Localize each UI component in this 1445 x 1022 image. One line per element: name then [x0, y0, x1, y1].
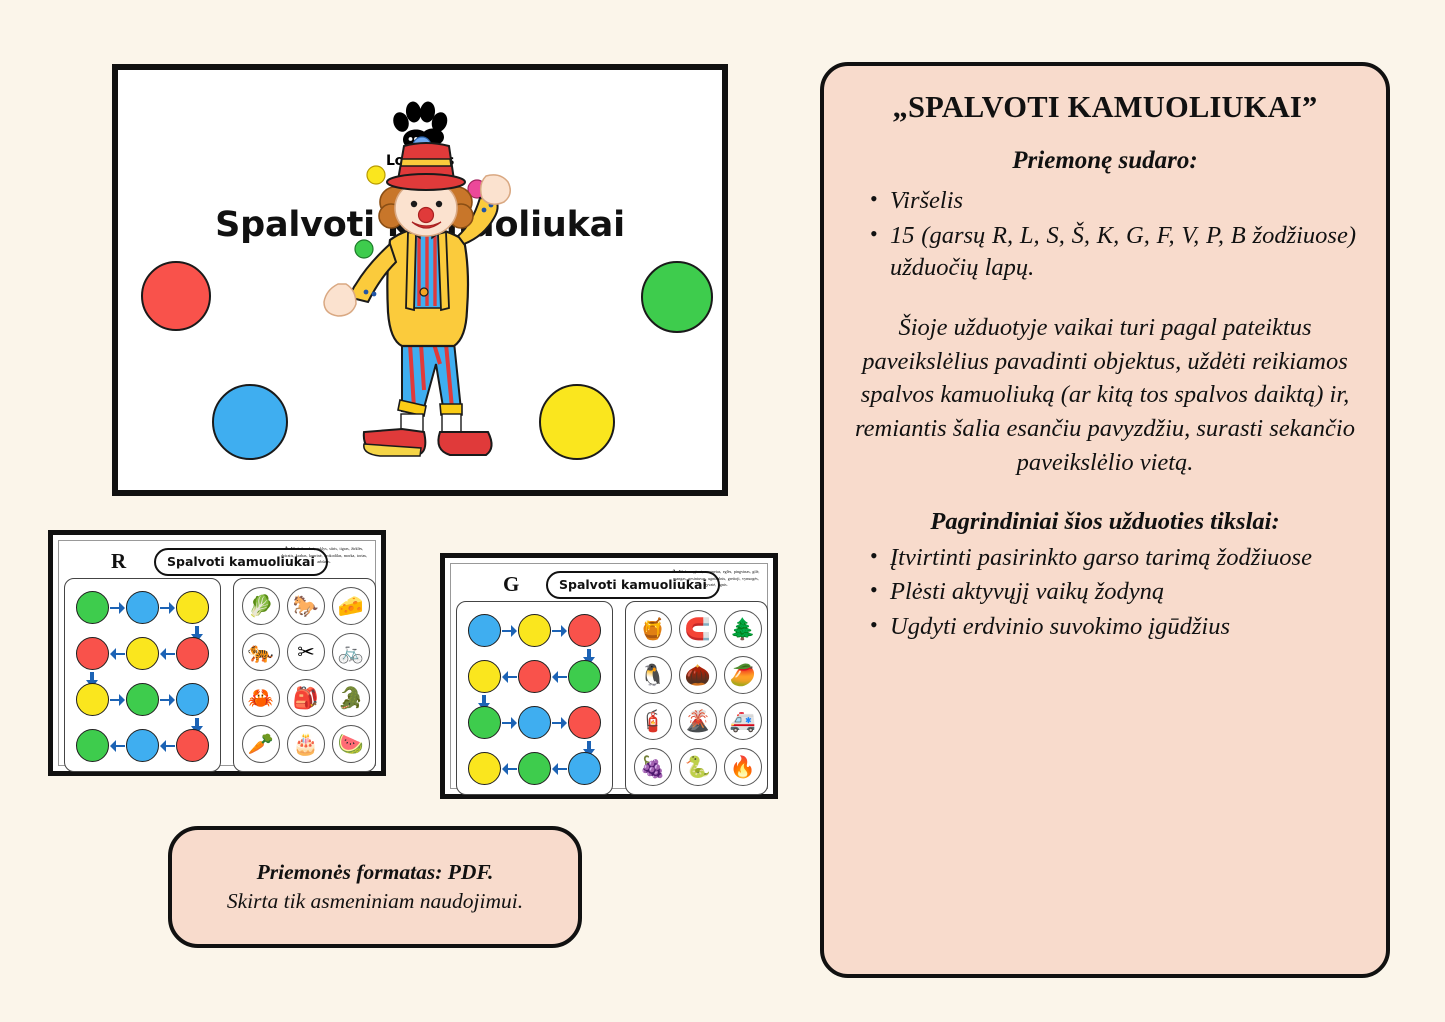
arrow-right-icon [109, 690, 126, 710]
worksheet-thumbnail-r[interactable]: R Spalvoti kamuoliukai Žodžiai: burokai,… [48, 530, 386, 776]
picture-fire: 🔥 [724, 748, 762, 786]
picture-acorn: 🌰 [679, 656, 717, 694]
wordlist-label: Žodžiai: [285, 546, 300, 551]
ball-row [457, 660, 612, 693]
ball [468, 614, 501, 647]
ball-row [457, 752, 612, 785]
arrow-left-icon [551, 667, 568, 687]
picture-crocodile: 🐊 [332, 679, 370, 717]
ball [126, 683, 159, 716]
arrow-right-icon [551, 713, 568, 733]
arrow-left-icon [109, 644, 126, 664]
ball-row [457, 614, 612, 647]
ball [518, 614, 551, 647]
cover-ball-blue [212, 384, 288, 460]
picture-snake: 🐍 [679, 748, 717, 786]
arrow-left-icon [159, 644, 176, 664]
picture-backpack: 🎒 [287, 679, 325, 717]
ball [126, 729, 159, 762]
list-item: Ugdyti erdvinio suvokimo įgūdžius [868, 611, 1360, 644]
picture-ambulance: 🚑 [724, 702, 762, 740]
picture-scissors: ✂ [287, 633, 325, 671]
ball [176, 637, 209, 670]
picture-fire-extinguisher: 🧯 [634, 702, 672, 740]
ball [468, 660, 501, 693]
info-panel-title: „SPALVOTI KAMUOLIUKAI” [850, 90, 1360, 125]
arrow-left-icon [109, 736, 126, 756]
worksheet-letter: G [503, 572, 519, 597]
ball-row [457, 706, 612, 739]
arrow-right-icon [159, 690, 176, 710]
ball [76, 591, 109, 624]
worksheet-ball-grid [64, 578, 221, 772]
ball [76, 729, 109, 762]
components-list: Viršelis 15 (garsų R, L, S, Š, K, G, F, … [868, 185, 1360, 285]
ball [568, 752, 601, 785]
worksheet-picture-grid: 🥬🐎🧀🐅✂🚲🦀🎒🐊🥕🎂🍉 [233, 578, 376, 772]
cover-ball-green [641, 261, 713, 333]
arrow-left-icon [501, 667, 518, 687]
arrow-left-icon [551, 759, 568, 779]
ball [468, 706, 501, 739]
arrow-right-icon [551, 621, 568, 641]
ball [568, 614, 601, 647]
worksheet-ball-grid [456, 601, 613, 795]
picture-tiger: 🐅 [242, 633, 280, 671]
juggling-clown-illustration [294, 132, 559, 492]
worksheet-picture-grid: 🍯🧲🌲🐧🌰🥭🧯🌋🚑🍇🐍🔥 [625, 601, 768, 795]
arrow-right-icon [501, 713, 518, 733]
picture-cake: 🎂 [287, 725, 325, 763]
arrow-right-icon [109, 598, 126, 618]
picture-penguin: 🐧 [634, 656, 672, 694]
components-heading: Priemonę sudaro: [850, 147, 1360, 175]
list-item: Plėsti aktyvųjį vaikų žodyną [868, 576, 1360, 609]
ball [518, 660, 551, 693]
info-panel: „SPALVOTI KAMUOLIUKAI” Priemonę sudaro: … [820, 62, 1390, 978]
arrow-left-icon [501, 759, 518, 779]
ball [126, 637, 159, 670]
goals-list: Įtvirtinti pasirinkto garso tarimą žodži… [868, 542, 1360, 644]
pdf-format-card: Priemonės formatas: PDF. Skirta tik asme… [168, 826, 582, 948]
ball [568, 706, 601, 739]
picture-beetroot: 🥬 [242, 587, 280, 625]
worksheet-wordlist: Žodžiai: uogienė, magnetas, eglės, pingv… [670, 569, 762, 588]
picture-fir-trees: 🌲 [724, 610, 762, 648]
ball [176, 591, 209, 624]
ball [518, 752, 551, 785]
goals-heading: Pagrindiniai šios užduoties tikslai: [850, 508, 1360, 536]
picture-crab: 🦀 [242, 679, 280, 717]
ball-row [65, 591, 220, 624]
picture-carrot: 🥕 [242, 725, 280, 763]
arrow-left-icon [159, 736, 176, 756]
ball [76, 637, 109, 670]
picture-bicycle: 🚲 [332, 633, 370, 671]
worksheet-inner: R Spalvoti kamuoliukai Žodžiai: burokai,… [58, 540, 376, 766]
ball [76, 683, 109, 716]
worksheet-letter: R [111, 549, 126, 574]
worksheet-thumbnail-g[interactable]: G Spalvoti kamuoliukai Žodžiai: uogienė,… [440, 553, 778, 799]
ball [568, 660, 601, 693]
ball [468, 752, 501, 785]
pdf-format-line: Priemonės formatas: PDF. [257, 860, 494, 885]
picture-jam-jar: 🍯 [634, 610, 672, 648]
wordlist-label: Žodžiai: [673, 569, 688, 574]
cover-card: Logiukas Spalvoti kamuoliukai [112, 64, 728, 496]
picture-volcano: 🌋 [679, 702, 717, 740]
ball-row [65, 683, 220, 716]
picture-horse: 🐎 [287, 587, 325, 625]
list-item: 15 (garsų R, L, S, Š, K, G, F, V, P, B ž… [868, 220, 1360, 285]
list-item: Įtvirtinti pasirinkto garso tarimą žodži… [868, 542, 1360, 575]
ball [518, 706, 551, 739]
picture-magnet: 🧲 [679, 610, 717, 648]
ball-row [65, 729, 220, 762]
picture-grapes: 🍇 [634, 748, 672, 786]
picture-mango: 🥭 [724, 656, 762, 694]
ball-row [65, 637, 220, 670]
cover-ball-red [141, 261, 211, 331]
worksheet-wordlist: Žodžiai: burokai, arklys, sūris, tigras,… [278, 546, 370, 565]
arrow-right-icon [501, 621, 518, 641]
ball [176, 683, 209, 716]
ball [176, 729, 209, 762]
list-item: Viršelis [868, 185, 1360, 218]
pdf-usage-line: Skirta tik asmeniniam naudojimui. [227, 889, 523, 914]
arrow-right-icon [159, 598, 176, 618]
ball [126, 591, 159, 624]
picture-watermelon: 🍉 [332, 725, 370, 763]
picture-cheese: 🧀 [332, 587, 370, 625]
worksheet-inner: G Spalvoti kamuoliukai Žodžiai: uogienė,… [450, 563, 768, 789]
task-description: Šioje užduotyje vaikai turi pagal pateik… [850, 311, 1360, 480]
